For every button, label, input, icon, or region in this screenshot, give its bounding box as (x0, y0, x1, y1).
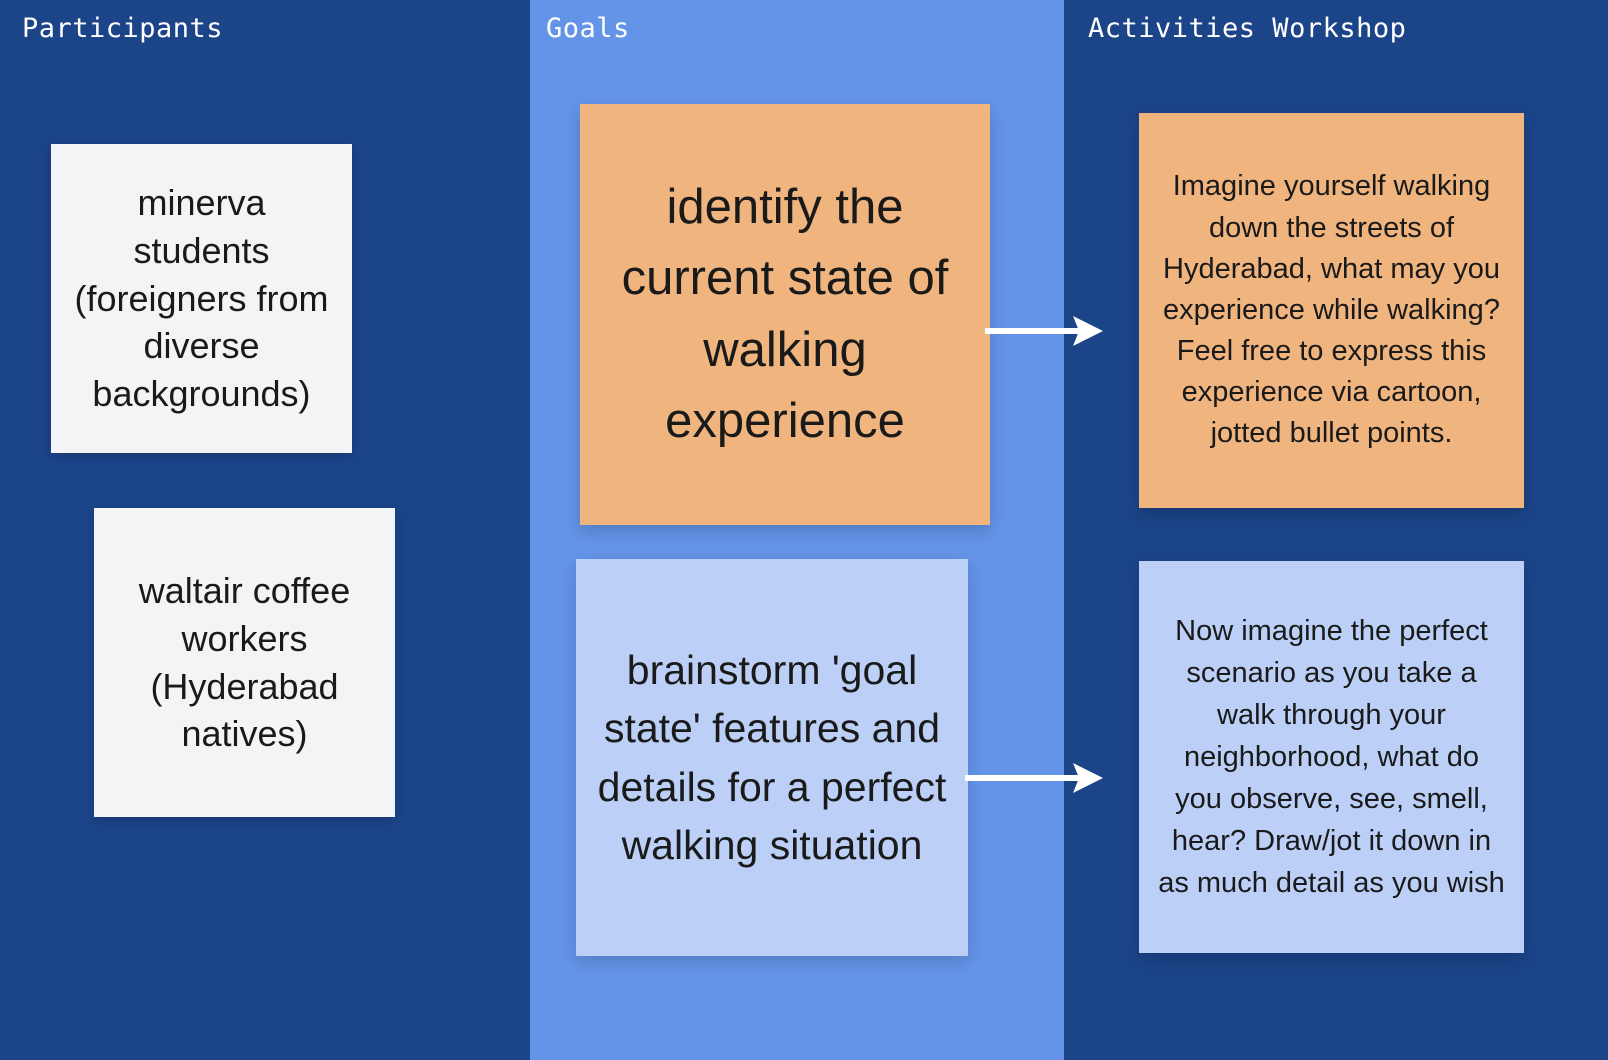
column-goals: Goals identify the current state of walk… (530, 0, 1064, 1060)
column-participants: Participants minerva students (foreigner… (0, 0, 530, 1060)
card-waltair-coffee-workers[interactable]: waltair coffee workers (Hyderabad native… (94, 508, 395, 817)
column-title-activities-workshop: Activities Workshop (1088, 13, 1406, 44)
workshop-board: Participants minerva students (foreigner… (0, 0, 1608, 1060)
column-title-goals: Goals (546, 13, 630, 44)
column-activities-workshop: Activities Workshop Imagine yourself wal… (1064, 0, 1608, 1060)
card-brainstorm-goal-state-text: brainstorm 'goal state' features and det… (590, 641, 954, 874)
card-minerva-students-text: minerva students (foreigners from divers… (65, 179, 338, 418)
card-activity-current-state-text: Imagine yourself walking down the street… (1161, 166, 1502, 454)
card-activity-current-state[interactable]: Imagine yourself walking down the street… (1139, 113, 1524, 508)
card-waltair-coffee-workers-text: waltair coffee workers (Hyderabad native… (108, 567, 381, 759)
card-identify-current-state-text: identify the current state of walking ex… (594, 172, 976, 456)
card-activity-goal-state[interactable]: Now imagine the perfect scenario as you … (1139, 561, 1524, 953)
column-title-participants: Participants (22, 13, 223, 44)
card-activity-goal-state-text: Now imagine the perfect scenario as you … (1157, 610, 1506, 904)
card-brainstorm-goal-state[interactable]: brainstorm 'goal state' features and det… (576, 559, 968, 956)
card-identify-current-state[interactable]: identify the current state of walking ex… (580, 104, 990, 525)
card-minerva-students[interactable]: minerva students (foreigners from divers… (51, 144, 352, 453)
